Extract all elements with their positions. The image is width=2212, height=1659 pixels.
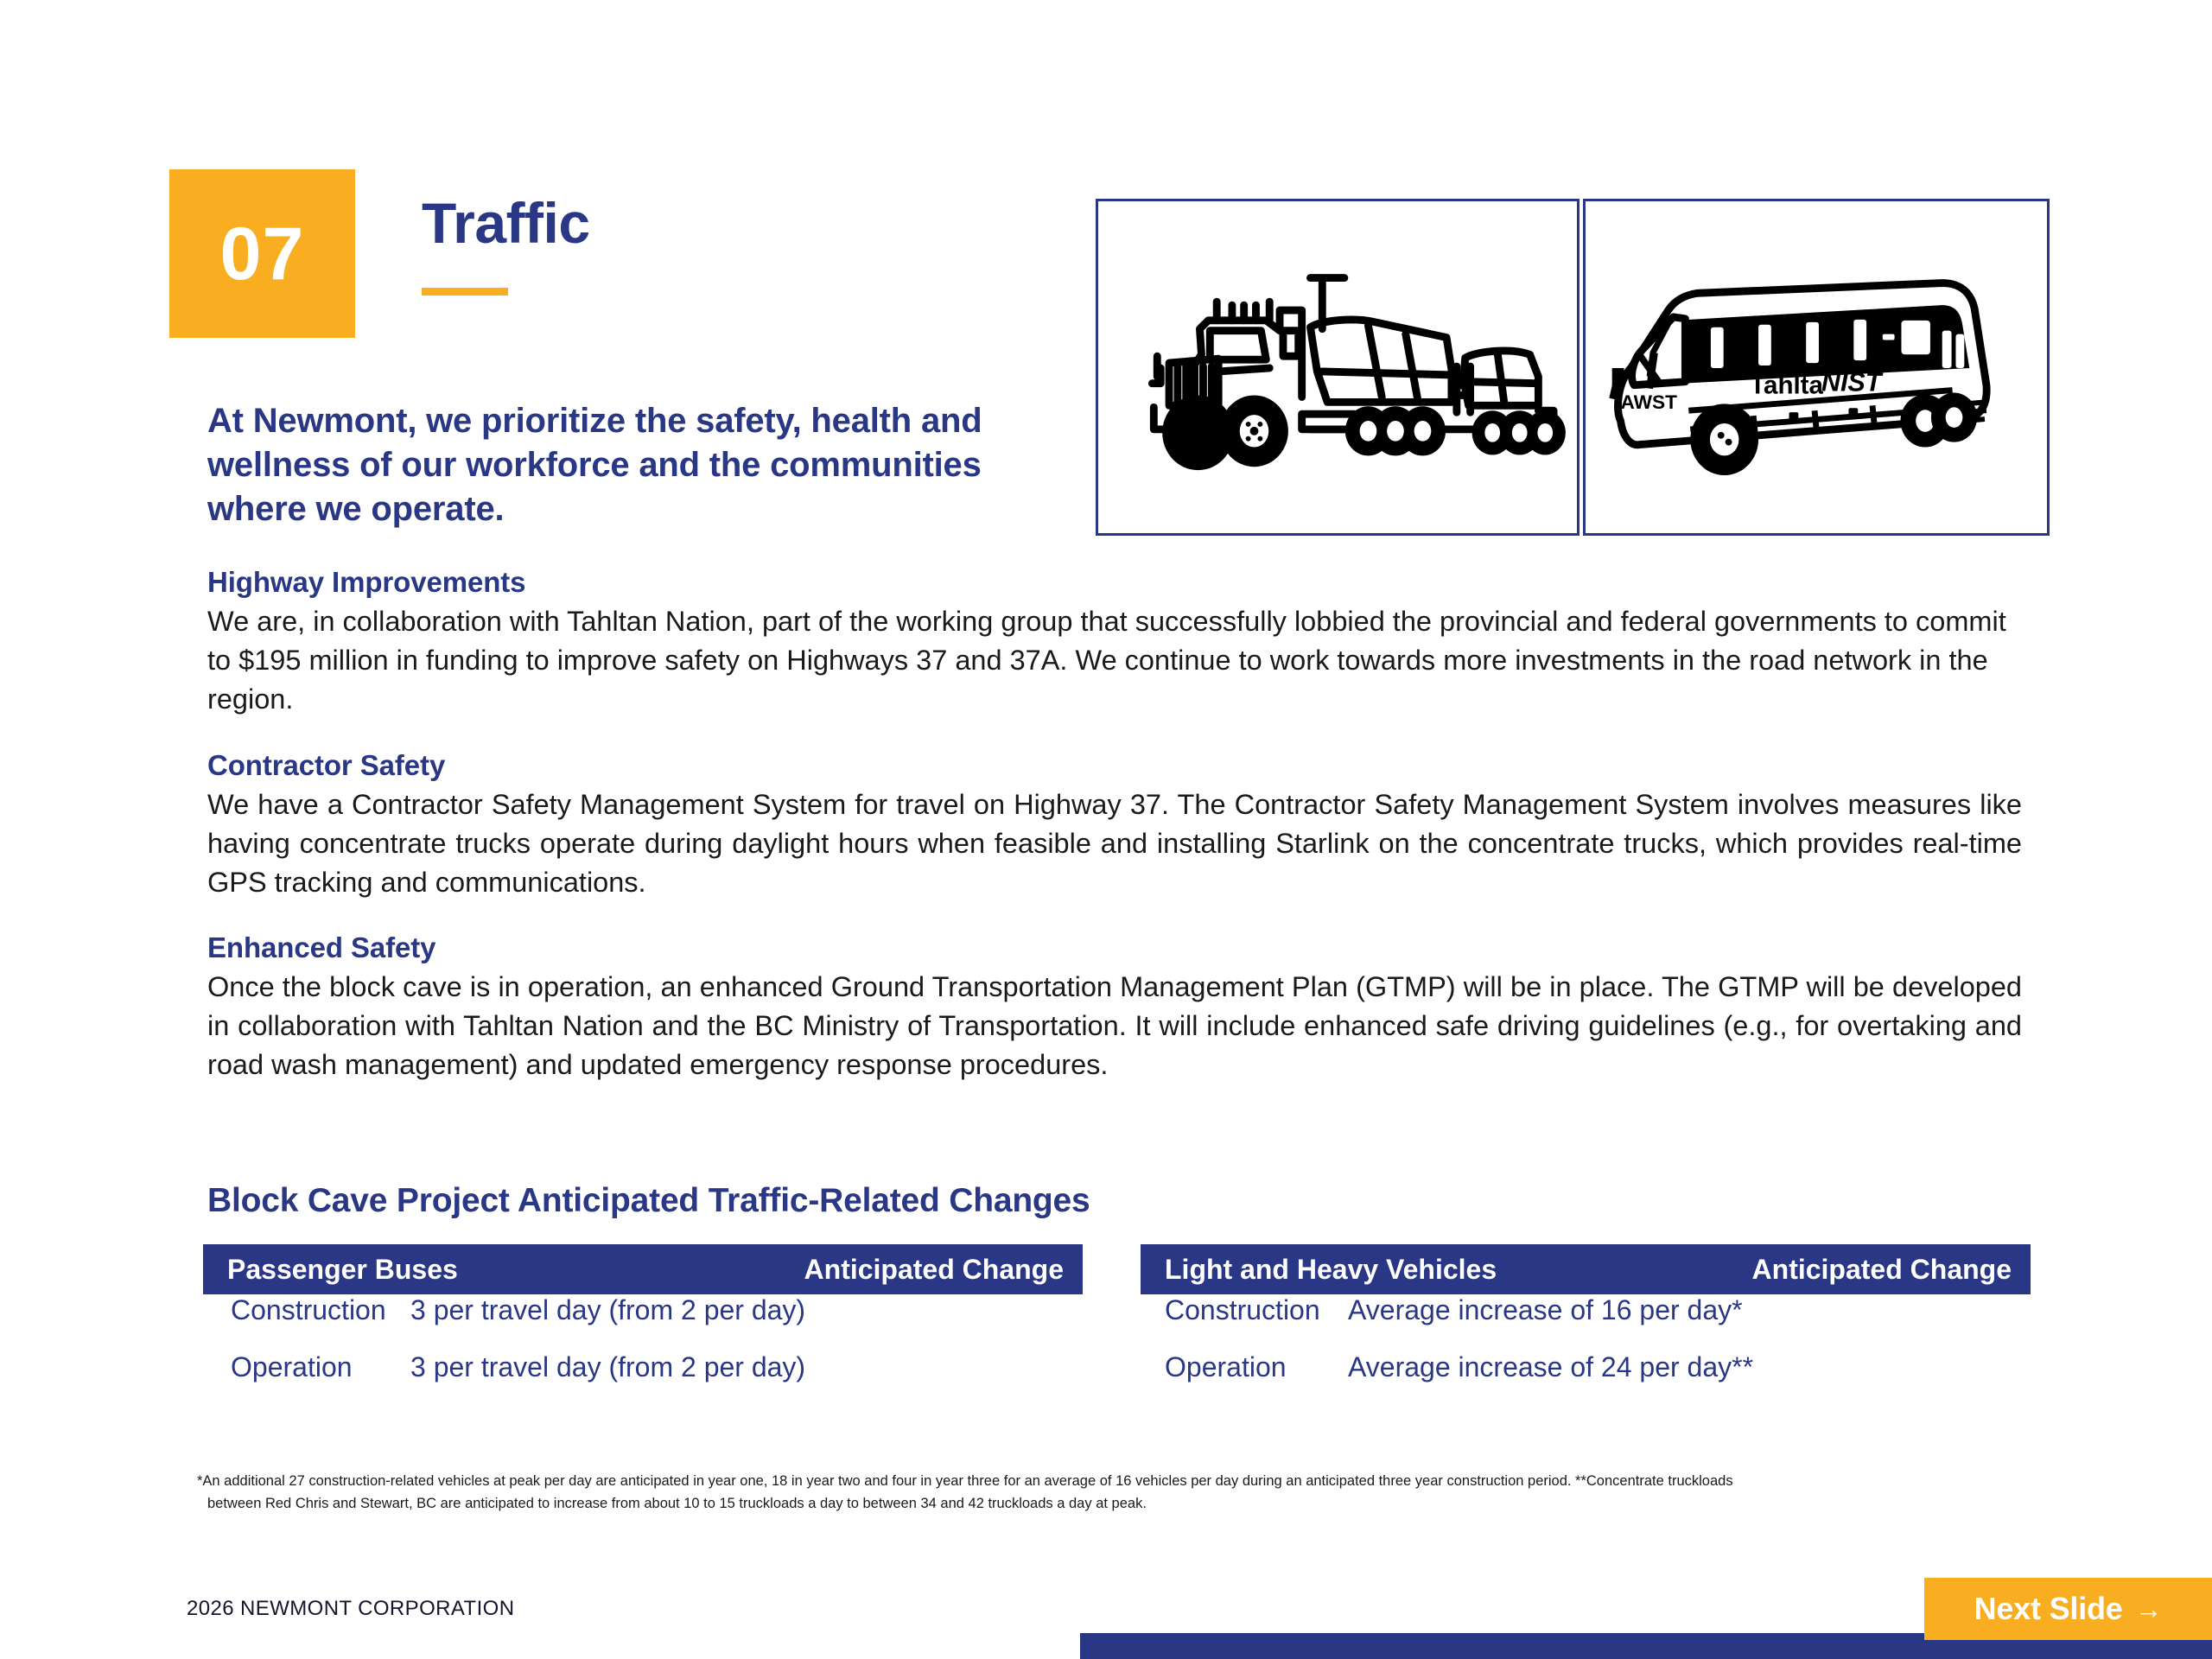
table-row: Operation Average increase of 24 per day…	[1141, 1351, 2031, 1408]
section-body: We have a Contractor Safety Management S…	[207, 785, 2022, 903]
table-light-and-heavy-vehicles: Light and Heavy Vehicles Anticipated Cha…	[1141, 1244, 2031, 1408]
section-number-badge: 07	[169, 169, 355, 338]
lead-statement: At Newmont, we prioritize the safety, he…	[207, 399, 1080, 532]
table-row: Construction 3 per travel day (from 2 pe…	[203, 1294, 1083, 1351]
footnote-line-2: between Red Chris and Stewart, BC are an…	[197, 1493, 2003, 1516]
next-slide-button[interactable]: Next Slide →	[1924, 1578, 2212, 1640]
row-value: Average increase of 24 per day**	[1348, 1351, 2031, 1383]
column-header-change: Anticipated Change	[1752, 1254, 2031, 1286]
title-underline-rule	[422, 288, 508, 296]
section-heading: Highway Improvements	[207, 566, 2022, 599]
row-label: Construction	[1141, 1294, 1348, 1326]
title-block: Traffic	[422, 194, 1027, 296]
row-label: Operation	[1141, 1351, 1348, 1383]
bus-front-code-text: AWST	[1621, 391, 1678, 413]
table-header-row: Light and Heavy Vehicles Anticipated Cha…	[1141, 1244, 2031, 1294]
passenger-bus-icon: Tahlta NIST AWST	[1586, 201, 2047, 533]
column-header-category: Light and Heavy Vehicles	[1141, 1254, 1497, 1286]
footnote-line-1: *An additional 27 construction-related v…	[197, 1471, 2003, 1493]
row-label: Operation	[203, 1351, 410, 1383]
row-value: 3 per travel day (from 2 per day)	[410, 1351, 1083, 1383]
bus-image-frame: Tahlta NIST AWST	[1583, 199, 2050, 536]
bus-windshield	[1632, 317, 1686, 385]
row-value: Average increase of 16 per day*	[1348, 1294, 2031, 1326]
section-enhanced-safety: Enhanced Safety Once the block cave is i…	[207, 931, 2022, 1085]
section-highway-improvements: Highway Improvements We are, in collabor…	[207, 566, 2022, 720]
section-heading: Contractor Safety	[207, 749, 2022, 782]
row-value: 3 per travel day (from 2 per day)	[410, 1294, 1083, 1326]
table-row: Construction Average increase of 16 per …	[1141, 1294, 2031, 1351]
copyright-text: 2026 NEWMONT CORPORATION	[187, 1597, 514, 1621]
footnote: *An additional 27 construction-related v…	[197, 1471, 2003, 1515]
column-header-change: Anticipated Change	[804, 1254, 1083, 1286]
row-label: Construction	[203, 1294, 410, 1326]
section-body: We are, in collaboration with Tahltan Na…	[207, 602, 2022, 720]
slide-root: 07 Traffic	[0, 0, 2212, 1659]
section-body: Once the block cave is in operation, an …	[207, 968, 2022, 1085]
section-contractor-safety: Contractor Safety We have a Contractor S…	[207, 749, 2022, 903]
page-title: Traffic	[422, 194, 1027, 251]
body-sections: Highway Improvements We are, in collabor…	[207, 566, 2022, 1115]
table-row: Operation 3 per travel day (from 2 per d…	[203, 1351, 1083, 1408]
arrow-right-icon: →	[2135, 1593, 2163, 1625]
concentrate-truck-icon	[1098, 201, 1577, 533]
section-number: 07	[220, 217, 305, 291]
truck-image-frame	[1096, 199, 1580, 536]
next-slide-label: Next Slide	[1974, 1591, 2123, 1627]
table-passenger-buses: Passenger Buses Anticipated Change Const…	[203, 1244, 1083, 1408]
bus-side-branding-text: Tahlta	[1750, 372, 1823, 400]
bus-side-branding-text-italic: NIST	[1821, 368, 1884, 397]
section-heading: Enhanced Safety	[207, 931, 2022, 964]
column-header-category: Passenger Buses	[203, 1254, 458, 1286]
table-header-row: Passenger Buses Anticipated Change	[203, 1244, 1083, 1294]
tables-heading: Block Cave Project Anticipated Traffic-R…	[207, 1182, 1090, 1220]
